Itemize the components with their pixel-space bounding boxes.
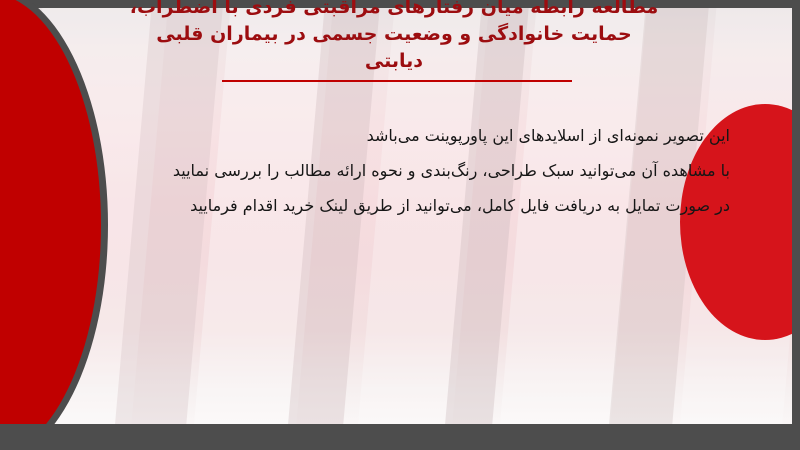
slide-title: مطالعه رابطه میان رفتارهای مراقبتی فردی … [84,0,704,75]
presentation-slide: مطالعه رابطه میان رفتارهای مراقبتی فردی … [0,0,800,450]
title-line-2: حمایت خانوادگی و وضعیت جسمی در بیماران ق… [84,21,704,48]
title-line-3: دیابتی [84,48,704,75]
body-line-1: این تصویر نمونه‌ای از اسلایدهای این پاور… [90,118,730,153]
slide-bottom-frame [0,424,800,450]
body-line-3: در صورت تمایل به دریافت فایل کامل، می‌تو… [90,188,730,223]
title-underline-rule [222,80,572,82]
title-line-1: مطالعه رابطه میان رفتارهای مراقبتی فردی … [84,0,704,21]
body-line-2: با مشاهده آن می‌توانید سبک طراحی، رنگ‌بن… [90,153,730,188]
slide-body-text: این تصویر نمونه‌ای از اسلایدهای این پاور… [90,118,730,223]
